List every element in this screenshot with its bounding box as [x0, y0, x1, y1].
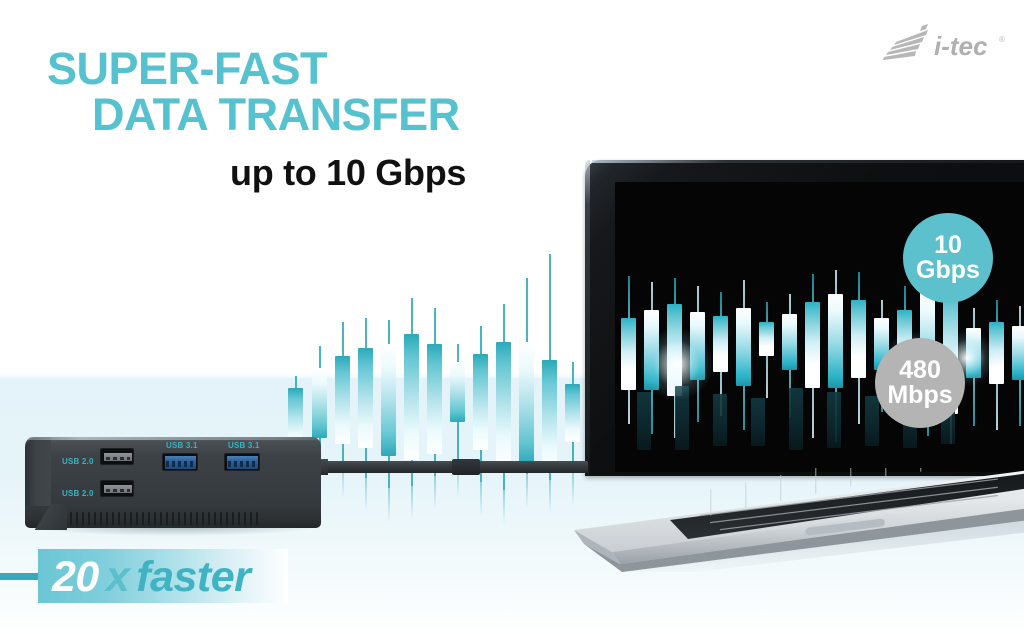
port-label-usb31-right: USB 3.1: [228, 441, 260, 450]
wave-outer-group: [280, 236, 600, 486]
dock-vent-slot: [88, 512, 90, 525]
screen-wave-bar-dim: [789, 388, 803, 450]
screen-wave-bar-dim: [751, 398, 765, 446]
laptop-base: [560, 468, 1024, 572]
screen-wave-bar-dim: [713, 394, 727, 446]
wave-stem-reflection: [549, 480, 551, 514]
dock-top-highlight: [28, 437, 318, 440]
badge-480-mbps-line2: Mbps: [887, 383, 952, 409]
svg-text:®: ®: [999, 35, 1005, 44]
itec-logo: i-tec ®: [882, 24, 1006, 64]
wave-bar: [496, 342, 511, 464]
marketing-banner: SUPER-FAST DATA TRANSFER up to 10 Gbps i…: [0, 0, 1024, 636]
wave-bar: [404, 334, 419, 460]
faster-number: 20: [52, 553, 99, 601]
usb-port-31-right[interactable]: [224, 453, 260, 471]
laptop-lid: [585, 160, 1024, 476]
wave-stem-reflection: [434, 476, 436, 510]
dock-vent-slot: [214, 512, 216, 525]
wave-bar: [542, 360, 557, 472]
dock-vent-slot: [208, 512, 210, 525]
dock-vent-slot: [178, 512, 180, 525]
wave-stem-reflection: [411, 486, 413, 520]
headline-block: SUPER-FAST DATA TRANSFER up to 10 Gbps: [0, 46, 560, 193]
dock-vent-slot: [160, 512, 162, 525]
headline-subline: up to 10 Gbps: [0, 138, 560, 193]
dock-vent-slot: [82, 512, 84, 525]
port-label-usb2-bottom: USB 2.0: [62, 489, 94, 498]
faster-callout: 20xfaster: [0, 549, 340, 605]
dock-vent-slot: [154, 512, 156, 525]
dock-vent-slot: [118, 512, 120, 525]
dock-vent-slot: [232, 512, 234, 525]
usb-port-slot: [165, 456, 196, 469]
port-label-usb2-top: USB 2.0: [62, 457, 94, 466]
badge-480-mbps-line1: 480: [899, 358, 941, 384]
wave-bar: [335, 356, 350, 444]
dock-vent-slot: [250, 512, 252, 525]
lid-top-highlight: [592, 160, 1024, 163]
wave-stem-reflection: [388, 488, 390, 522]
screen-wave-bar: [736, 308, 751, 386]
dock-vent-slot: [196, 512, 198, 525]
wave-stem-reflection: [365, 478, 367, 512]
faster-word: faster: [129, 553, 250, 601]
dock-vent-slot: [244, 512, 246, 525]
screen-wave-bar-dim: [827, 392, 841, 448]
dock-vent-slot: [136, 512, 138, 525]
itec-arrow-logo-icon: i-tec ®: [882, 24, 1006, 64]
wave-bar: [427, 344, 442, 454]
dock-vent-slot: [190, 512, 192, 525]
headline-line-1: SUPER-FAST: [0, 46, 560, 92]
usb-docking-station: USB 2.0 USB 2.0 USB 3.1 USB 3.1: [18, 430, 328, 538]
usb-port-31-left[interactable]: [162, 453, 198, 471]
dock-vent-slot: [184, 512, 186, 525]
dock-vent-slot: [202, 512, 204, 525]
screen-wave-bar: [713, 316, 728, 372]
dock-vent-slot: [142, 512, 144, 525]
cable-inline-plug: [452, 459, 480, 475]
wave-bar: [450, 362, 465, 422]
usb-port-slot: [104, 485, 132, 493]
wave-bar: [358, 348, 373, 448]
wave-bar: [519, 342, 534, 464]
screen-wave-bar: [1012, 326, 1024, 380]
screen-wave-bar: [782, 314, 797, 370]
usb-port-2-top[interactable]: [100, 448, 134, 465]
wave-stem-reflection: [503, 490, 505, 524]
screen-wave-bar-dim: [637, 392, 651, 450]
screen-wave-bar: [621, 318, 636, 390]
usb-port-slot: [227, 456, 258, 469]
headline-line-2: DATA TRANSFER: [0, 92, 560, 138]
screen-glow: [641, 328, 713, 400]
dock-vent-slot: [238, 512, 240, 525]
dock-vent-slot: [112, 512, 114, 525]
screen-wave-bar-dim: [865, 396, 879, 446]
screen-wave-bar: [805, 302, 820, 388]
dock-vent-slot: [94, 512, 96, 525]
usb-port-slot: [104, 453, 132, 461]
badge-10-gbps-line2: Gbps: [916, 258, 980, 284]
dock-vent-slot: [256, 512, 258, 525]
dock-vent-slot: [166, 512, 168, 525]
dock-vent-slot: [124, 512, 126, 525]
port-label-usb31-left: USB 3.1: [166, 441, 198, 450]
dock-shadow: [30, 526, 320, 536]
badge-480-mbps: 480 Mbps: [875, 338, 965, 428]
wave-bar: [381, 344, 396, 456]
lid-left-highlight: [585, 160, 590, 476]
badge-10-gbps-line1: 10: [934, 233, 962, 259]
dock-vent-slot: [106, 512, 108, 525]
dock-left-edge: [25, 437, 51, 511]
dock-vent-slot: [220, 512, 222, 525]
screen-wave-bar: [759, 322, 774, 356]
dock-vent-slot: [70, 512, 72, 525]
wave-stem-reflection: [480, 482, 482, 516]
dock-vent-slot: [226, 512, 228, 525]
screen-wave-bar: [828, 294, 843, 388]
badge-10-gbps: 10 Gbps: [903, 213, 993, 303]
svg-text:i-tec: i-tec: [934, 31, 988, 61]
wave-bar: [473, 354, 488, 450]
dock-vent-slot: [148, 512, 150, 525]
wave-bar: [312, 368, 327, 438]
dock-vents: [70, 512, 288, 525]
dock-vent-slot: [76, 512, 78, 525]
dock-vent-slot: [172, 512, 174, 525]
faster-text: 20xfaster: [52, 550, 250, 604]
faster-multiplier: x: [99, 553, 129, 601]
usb-port-2-bottom[interactable]: [100, 480, 134, 497]
wave-stem-reflection: [526, 474, 528, 508]
dock-vent-slot: [100, 512, 102, 525]
screen-wave-bar: [851, 300, 866, 378]
dock-vent-slot: [130, 512, 132, 525]
